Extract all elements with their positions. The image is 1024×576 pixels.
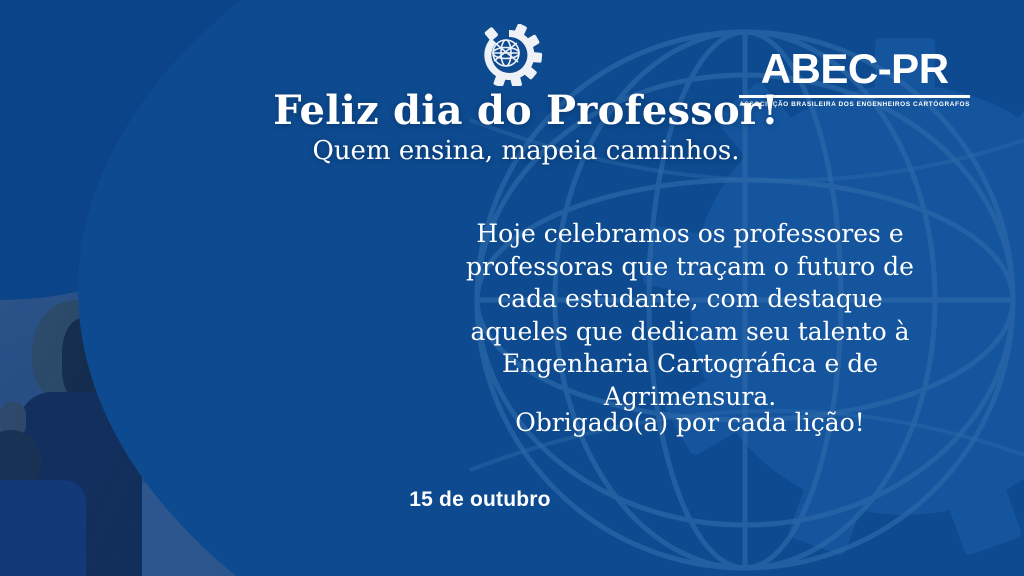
logo-wordmark: ABEC-PR: [739, 48, 970, 90]
page-title: Feliz dia do Professor!: [226, 90, 826, 132]
headline-block: Feliz dia do Professor! Quem ensina, map…: [226, 90, 826, 167]
poster-canvas: ABEC-PR ASSOCIAÇÃO BRASILEIRA DOS ENGENH…: [0, 0, 1024, 576]
page-subtitle: Quem ensina, mapeia caminhos.: [226, 136, 826, 167]
body-paragraph: Hoje celebramos os professores e profess…: [455, 218, 925, 413]
event-date: 15 de outubro: [330, 488, 630, 512]
globe-gear-icon: [473, 24, 543, 86]
thanks-message: Obrigado(a) por cada lição!: [455, 408, 925, 437]
